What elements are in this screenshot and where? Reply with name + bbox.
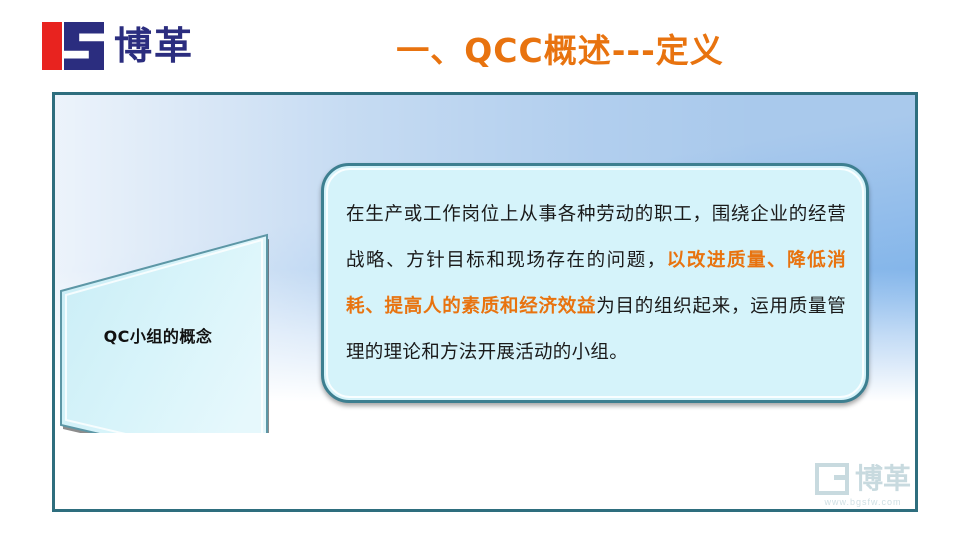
definition-text: 在生产或工作岗位上从事各种劳动的职工，围绕企业的经营战略、方针目标和现场存在的问… — [346, 192, 846, 384]
content-frame: QC小组的概念 在生产或工作岗位上从事各种劳动的职工，围绕企业的经营战略、方针目… — [52, 92, 918, 512]
logo-navy-glyph-icon — [64, 22, 104, 70]
trapezoid-shape-icon — [55, 163, 275, 433]
bogé-logo-mark-icon — [42, 22, 104, 70]
watermark-url: www.bgsfw.com — [815, 497, 911, 507]
page-title: 一、QCC概述---定义 — [300, 24, 820, 72]
brand-logo-text: 博革 — [114, 27, 194, 65]
logo-red-glyph-icon — [42, 22, 62, 70]
watermark-box-icon — [815, 463, 849, 495]
trapezoid-label: QC小组的概念 — [63, 323, 253, 347]
watermark: 博革 www.bgsfw.com — [815, 463, 911, 507]
concept-trapezoid-panel: QC小组的概念 — [55, 163, 275, 433]
slide-header: 博革 一、QCC概述---定义 — [0, 0, 960, 92]
watermark-logo: 博革 — [815, 463, 911, 495]
definition-textbox: 在生产或工作岗位上从事各种劳动的职工，围绕企业的经营战略、方针目标和现场存在的问… — [321, 163, 869, 403]
brand-logo: 博革 — [42, 20, 194, 72]
watermark-brand: 博革 — [855, 465, 911, 493]
